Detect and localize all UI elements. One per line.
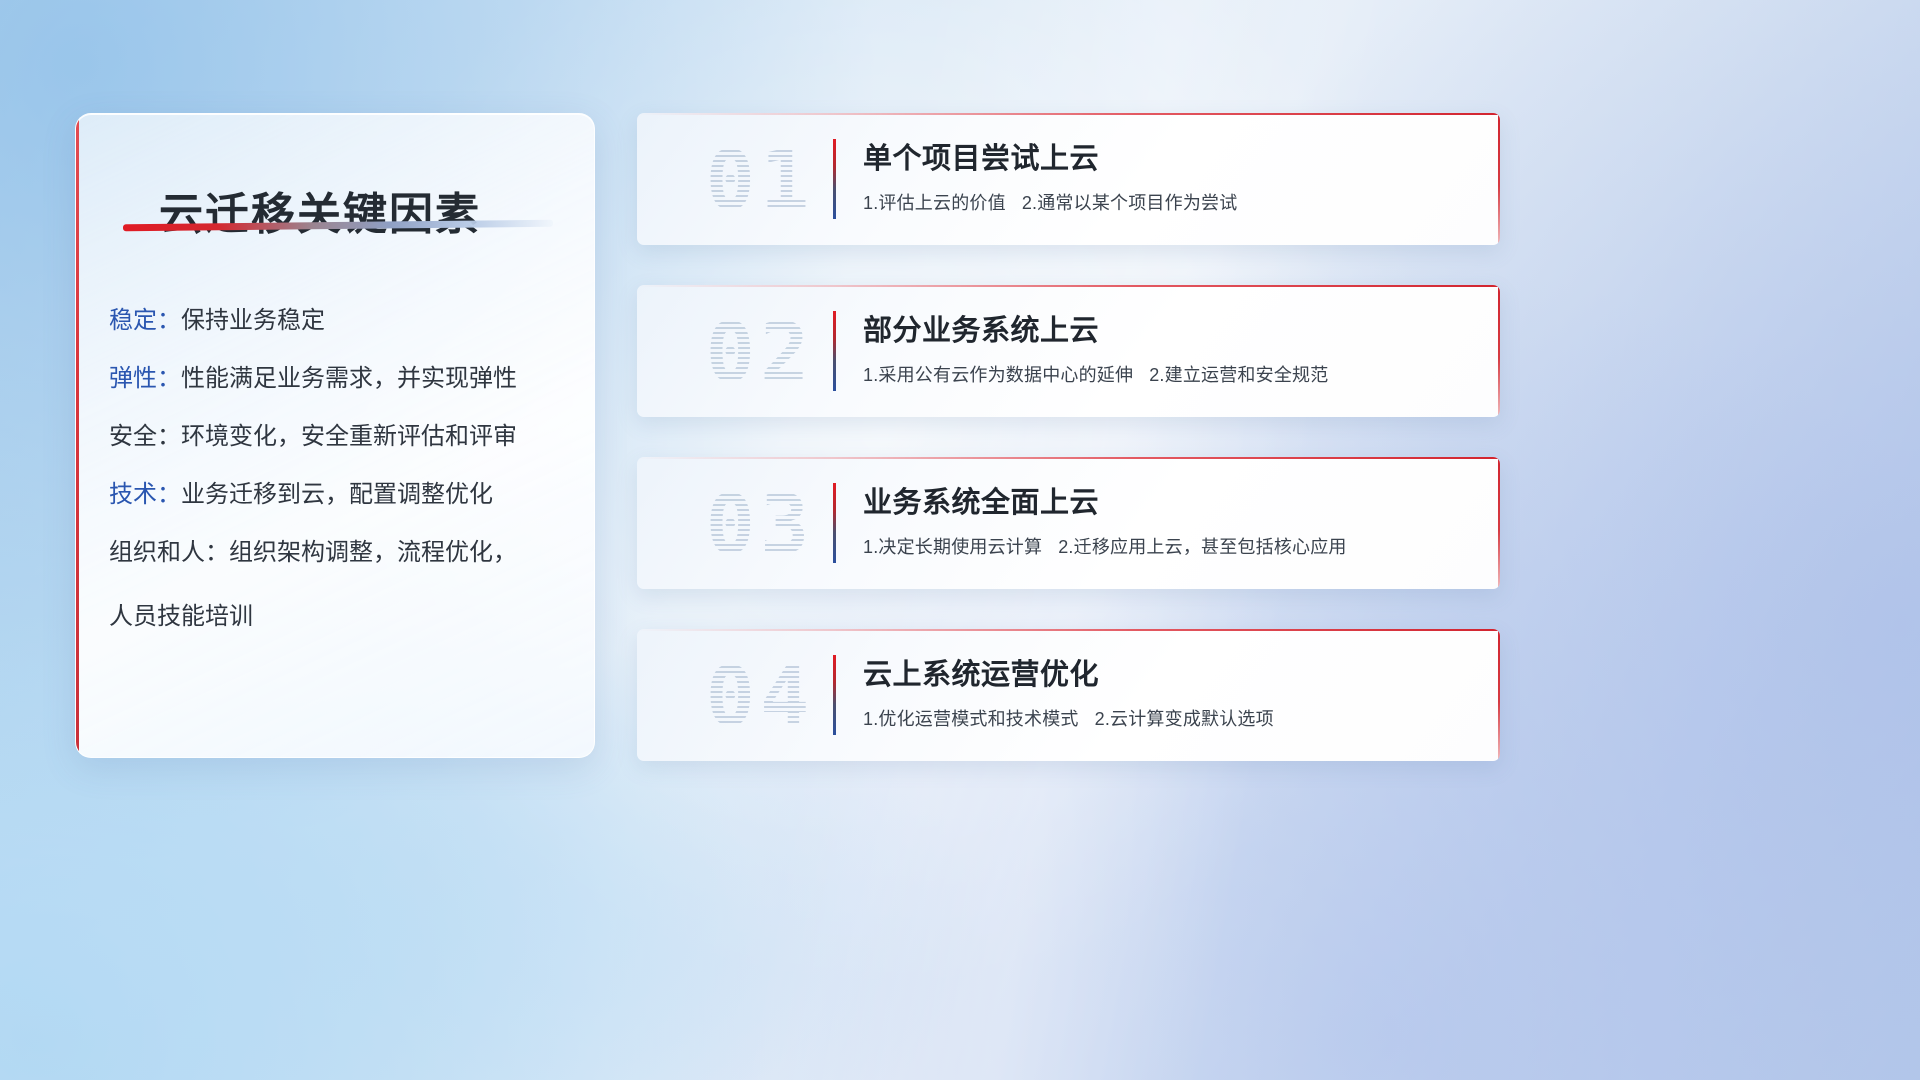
card-right-accent-line	[1498, 457, 1500, 589]
factor-list: 稳定：保持业务稳定弹性：性能满足业务需求，并实现弹性安全：环境变化，安全重新评估…	[109, 306, 579, 659]
factor-row: 安全：环境变化，安全重新评估和评审	[109, 422, 579, 452]
card-title: 业务系统全面上云	[863, 479, 1470, 521]
card-description-item: 2.迁移应用上云，甚至包括核心应用	[1058, 537, 1346, 557]
card-divider-bar	[833, 483, 836, 563]
factor-value: 环境变化，安全重新评估和评审	[181, 423, 517, 450]
stage-card[interactable]: 01单个项目尝试上云1.评估上云的价值2.通常以某个项目作为尝试	[637, 113, 1500, 245]
factor-row: 稳定：保持业务稳定	[109, 306, 579, 336]
page-title: 云迁移关键因素	[159, 178, 559, 242]
stage-number: 04	[665, 641, 855, 753]
stage-card[interactable]: 04云上系统运营优化1.优化运营模式和技术模式2.云计算变成默认选项	[637, 629, 1500, 761]
card-description: 1.优化运营模式和技术模式2.云计算变成默认选项	[863, 705, 1470, 731]
card-top-accent-line	[637, 457, 1500, 459]
card-description: 1.采用公有云作为数据中心的延伸2.建立运营和安全规范	[863, 361, 1470, 387]
factor-label: 安全：	[109, 423, 181, 450]
card-title: 单个项目尝试上云	[863, 135, 1470, 177]
card-body: 部分业务系统上云1.采用公有云作为数据中心的延伸2.建立运营和安全规范	[863, 307, 1470, 387]
stage-card[interactable]: 02部分业务系统上云1.采用公有云作为数据中心的延伸2.建立运营和安全规范	[637, 285, 1500, 417]
factor-label: 技术：	[109, 481, 181, 508]
card-description: 1.评估上云的价值2.通常以某个项目作为尝试	[863, 189, 1470, 215]
card-description: 1.决定长期使用云计算2.迁移应用上云，甚至包括核心应用	[863, 533, 1470, 559]
key-factors-panel: 云迁移关键因素 稳定：保持业务稳定弹性：性能满足业务需求，并实现弹性安全：环境变…	[75, 113, 595, 758]
card-description-item: 1.优化运营模式和技术模式	[863, 709, 1079, 729]
factor-label: 组织和人：	[109, 539, 229, 566]
factor-value: 性能满足业务需求，并实现弹性	[181, 365, 517, 392]
cloud-migration-stage-cards: 01单个项目尝试上云1.评估上云的价值2.通常以某个项目作为尝试02部分业务系统…	[637, 113, 1500, 801]
card-body: 业务系统全面上云1.决定长期使用云计算2.迁移应用上云，甚至包括核心应用	[863, 479, 1470, 559]
card-description-item: 1.采用公有云作为数据中心的延伸	[863, 365, 1133, 385]
card-description-item: 2.云计算变成默认选项	[1095, 709, 1274, 729]
card-right-accent-line	[1498, 285, 1500, 417]
card-body: 单个项目尝试上云1.评估上云的价值2.通常以某个项目作为尝试	[863, 135, 1470, 215]
card-divider-bar	[833, 139, 836, 219]
card-top-accent-line	[637, 285, 1500, 287]
factor-value: 组织架构调整，流程优化，	[229, 539, 517, 566]
factor-label: 稳定：	[109, 307, 181, 334]
card-top-accent-line	[637, 113, 1500, 115]
card-right-accent-line	[1498, 113, 1500, 245]
factor-row: 弹性：性能满足业务需求，并实现弹性	[109, 364, 579, 394]
card-description-item: 1.评估上云的价值	[863, 193, 1006, 213]
stage-card[interactable]: 03业务系统全面上云1.决定长期使用云计算2.迁移应用上云，甚至包括核心应用	[637, 457, 1500, 589]
factor-value: 业务迁移到云，配置调整优化	[181, 481, 493, 508]
card-divider-bar	[833, 655, 836, 735]
card-top-accent-line	[637, 629, 1500, 631]
stage-number: 01	[665, 125, 855, 237]
card-description-item: 2.建立运营和安全规范	[1149, 365, 1328, 385]
card-description-item: 2.通常以某个项目作为尝试	[1022, 193, 1238, 213]
factor-row: 组织和人：组织架构调整，流程优化，	[109, 538, 579, 568]
stage-number: 02	[665, 297, 855, 409]
factor-label: 弹性：	[109, 365, 181, 392]
factor-continuation-line: 人员技能培训	[109, 596, 579, 631]
card-title: 云上系统运营优化	[863, 651, 1470, 693]
factor-row: 技术：业务迁移到云，配置调整优化	[109, 480, 579, 510]
card-title: 部分业务系统上云	[863, 307, 1470, 349]
card-right-accent-line	[1498, 629, 1500, 761]
card-divider-bar	[833, 311, 836, 391]
card-description-item: 1.决定长期使用云计算	[863, 537, 1042, 557]
card-body: 云上系统运营优化1.优化运营模式和技术模式2.云计算变成默认选项	[863, 651, 1470, 731]
stage-number: 03	[665, 469, 855, 581]
factor-value: 保持业务稳定	[181, 307, 325, 334]
